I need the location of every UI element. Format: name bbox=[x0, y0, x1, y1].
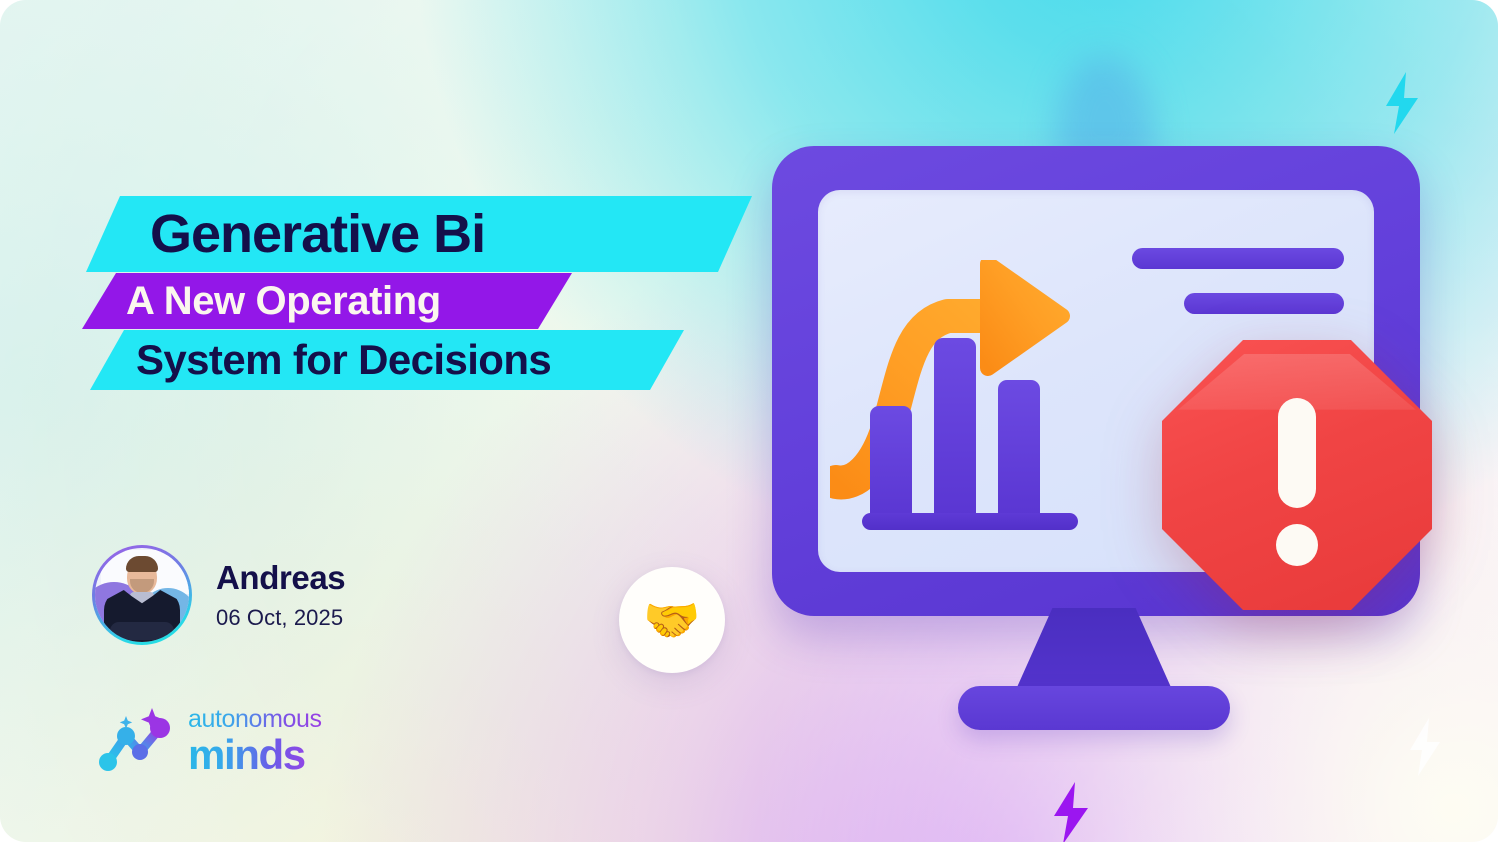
brand-wordmark: autonomous minds bbox=[188, 707, 322, 776]
monitor-neck bbox=[1014, 608, 1174, 694]
bar-2 bbox=[934, 338, 976, 518]
text-line-short bbox=[1184, 293, 1344, 314]
brand-line-2: minds bbox=[188, 734, 322, 776]
title-stack: Generative Bi A New Operating System for… bbox=[86, 196, 752, 391]
brand-line-1: autonomous bbox=[188, 707, 322, 732]
bar-1 bbox=[870, 406, 912, 518]
title-band-3: System for Decisions bbox=[90, 330, 684, 390]
text-lines-group bbox=[1132, 248, 1344, 314]
avatar-hair bbox=[126, 556, 158, 572]
poster-canvas: Generative Bi A New Operating System for… bbox=[0, 0, 1498, 842]
author-block: Andreas 06 Oct, 2025 bbox=[92, 545, 345, 645]
lightning-bolt-icon-top-right bbox=[1380, 72, 1424, 134]
avatar-arms bbox=[110, 622, 174, 640]
avatar bbox=[92, 545, 192, 645]
lightning-bolt-icon-bottom-right bbox=[1404, 718, 1446, 776]
line-chart-sparkle-icon bbox=[96, 706, 174, 777]
title-band-2: A New Operating bbox=[82, 273, 572, 329]
exclamation-bar bbox=[1278, 398, 1316, 508]
exclamation-dot bbox=[1276, 524, 1318, 566]
title-band-1: Generative Bi bbox=[86, 196, 752, 272]
author-date: 06 Oct, 2025 bbox=[216, 605, 345, 631]
bar-chart-baseline bbox=[862, 513, 1078, 530]
brand-logo[interactable]: autonomous minds bbox=[96, 706, 322, 777]
monitor-analytics-alert-illustration bbox=[764, 140, 1424, 740]
text-line-long bbox=[1132, 248, 1344, 269]
alert-octagon-icon bbox=[1162, 340, 1432, 610]
avatar-photo bbox=[95, 548, 189, 642]
bar-3 bbox=[998, 380, 1040, 518]
author-text: Andreas 06 Oct, 2025 bbox=[216, 559, 345, 631]
bar-chart-icon bbox=[862, 340, 1072, 530]
lightning-bolt-icon-bottom bbox=[1048, 782, 1094, 842]
monitor-base bbox=[958, 686, 1230, 730]
author-name: Andreas bbox=[216, 559, 345, 597]
handshake-badge[interactable]: 🤝 bbox=[619, 567, 725, 673]
handshake-emoji: 🤝 bbox=[643, 593, 700, 648]
